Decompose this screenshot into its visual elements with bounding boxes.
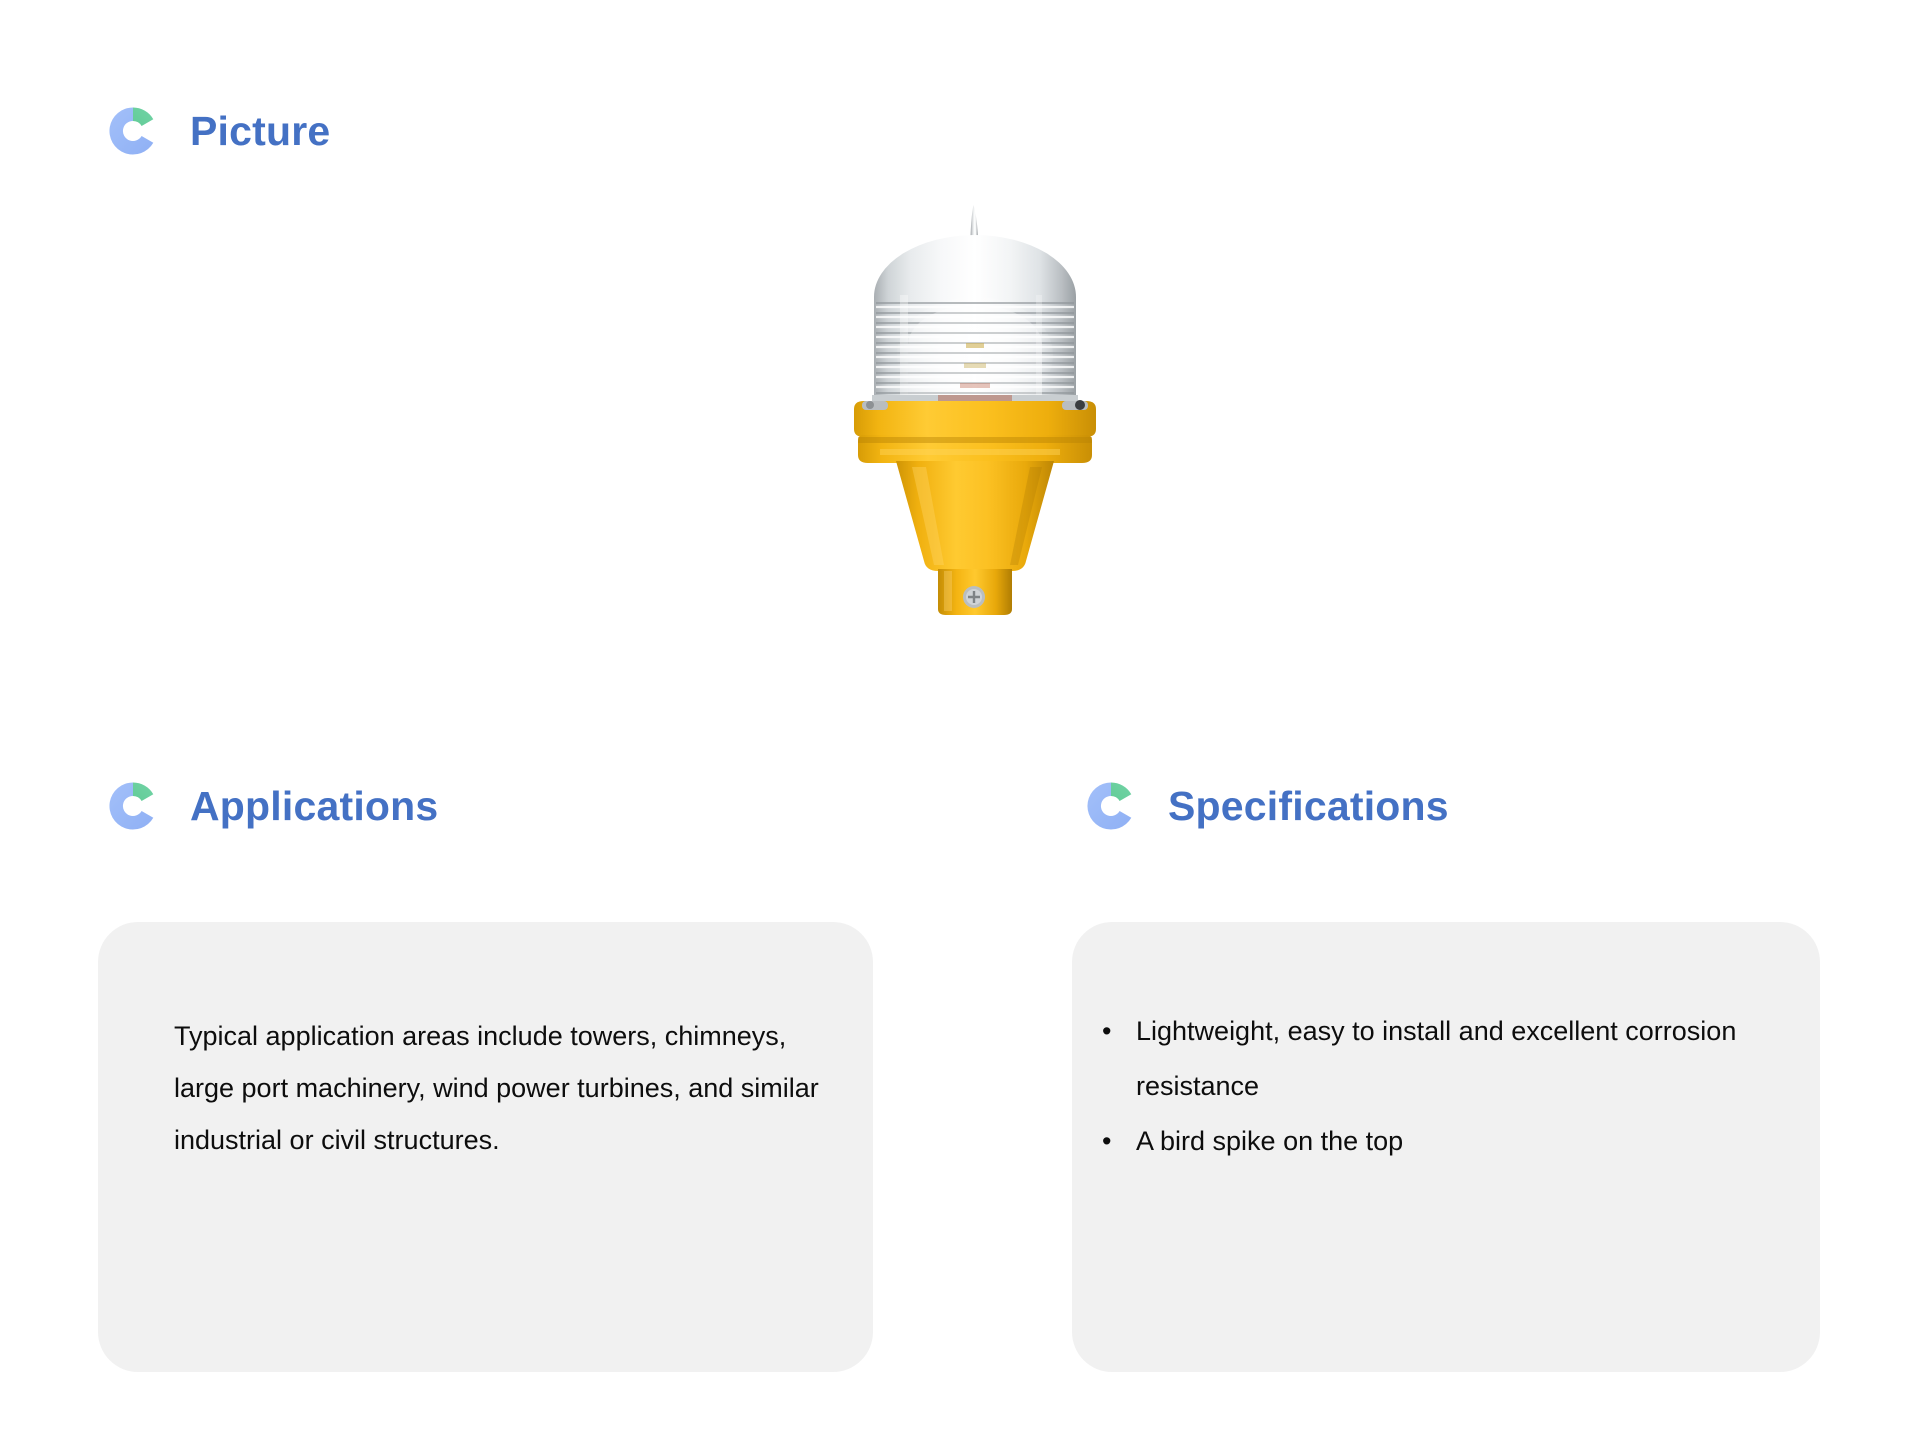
section-header-applications: Applications <box>104 777 438 835</box>
section-title-applications: Applications <box>190 786 438 827</box>
brand-c-icon <box>104 777 162 835</box>
specifications-bullet-list: Lightweight, easy to install and excelle… <box>1094 1004 1774 1169</box>
slide-canvas: Picture <box>0 0 1920 1440</box>
list-item: A bird spike on the top <box>1094 1114 1774 1169</box>
applications-text: Typical application areas include towers… <box>174 1010 827 1166</box>
specifications-card: Lightweight, easy to install and excelle… <box>1072 922 1820 1372</box>
brand-c-icon <box>1082 777 1140 835</box>
applications-card-body: Typical application areas include towers… <box>174 1010 827 1166</box>
page-title: Picture <box>190 111 330 152</box>
list-item: Lightweight, easy to install and excelle… <box>1094 1004 1774 1114</box>
section-title-specifications: Specifications <box>1168 786 1449 827</box>
section-header-picture: Picture <box>104 102 330 160</box>
specifications-card-body: Lightweight, easy to install and excelle… <box>1094 1004 1774 1169</box>
applications-card: Typical application areas include towers… <box>98 922 873 1372</box>
section-header-specifications: Specifications <box>1082 777 1449 835</box>
brand-c-icon <box>104 102 162 160</box>
product-image-aviation-obstruction-light <box>840 205 1110 675</box>
